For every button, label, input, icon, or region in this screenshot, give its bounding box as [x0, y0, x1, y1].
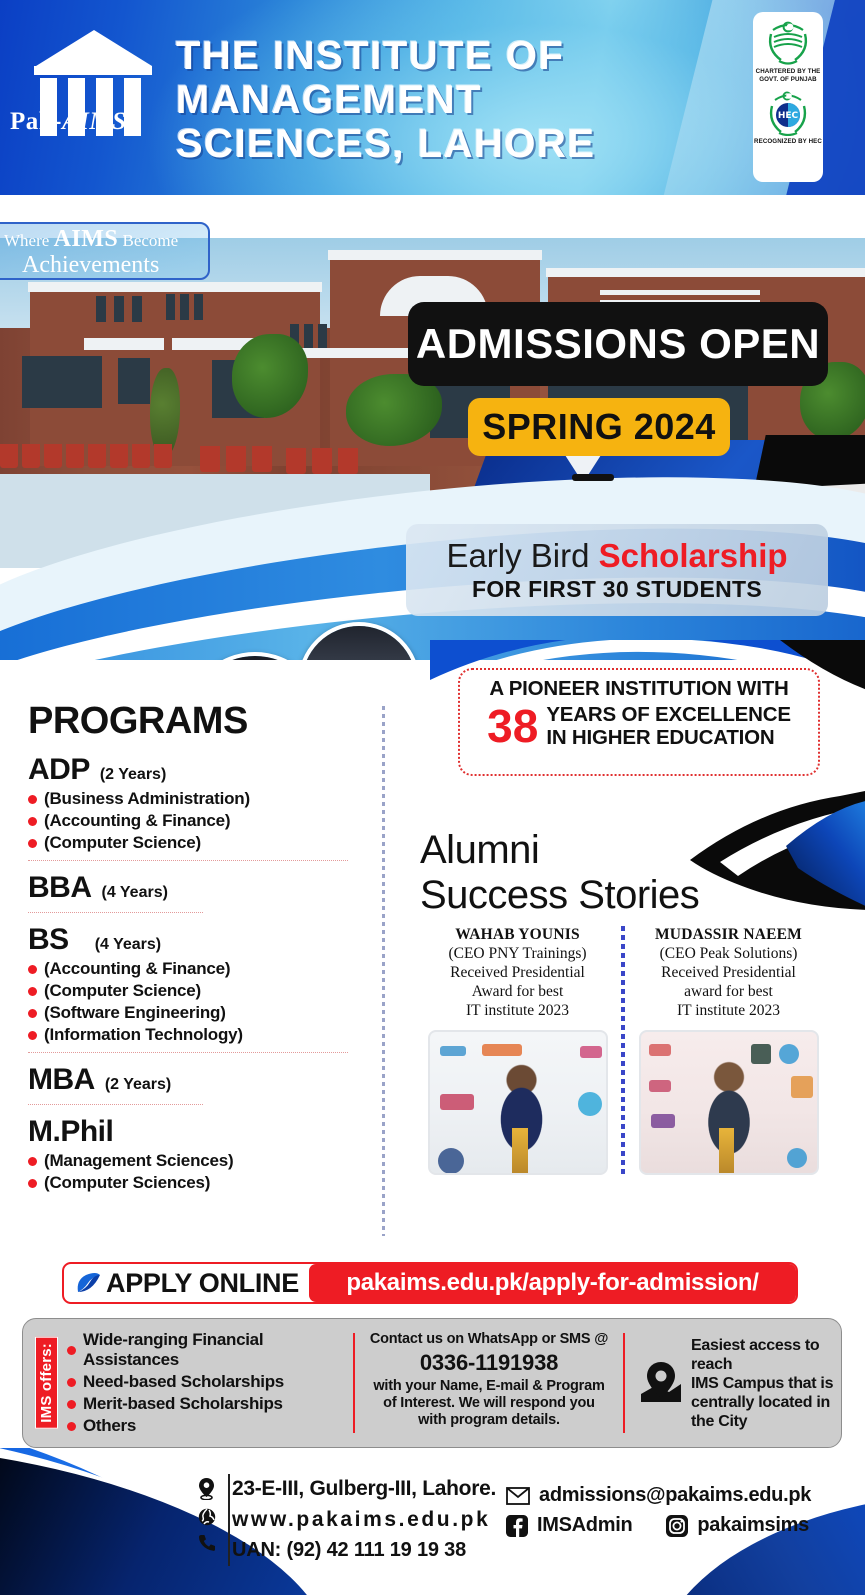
- early-bird-box: Early Bird Scholarship FOR FIRST 30 STUD…: [406, 524, 828, 616]
- program-major: (Computer Sciences): [28, 1173, 368, 1193]
- program-name: BS: [28, 923, 69, 957]
- program-major: (Software Engineering): [28, 1003, 368, 1023]
- list-item: Wide-ranging Financial Assistances: [67, 1330, 353, 1370]
- globe-icon: [198, 1508, 216, 1526]
- contact-line3c: with program details.: [363, 1412, 615, 1429]
- alumni-name: MUDASSIR NAEEM: [631, 926, 826, 944]
- bullet-icon: [28, 795, 37, 804]
- bullet-icon: [67, 1378, 76, 1387]
- tagline-badge: Where AIMS Become Achievements: [0, 222, 210, 280]
- location-line3: centrally located in the City: [691, 1393, 841, 1431]
- envelope-icon: [506, 1487, 530, 1505]
- tagline-line2: Achievements: [22, 252, 198, 278]
- bullet-icon: [28, 1179, 37, 1188]
- bullet-icon: [28, 965, 37, 974]
- footer-website[interactable]: www.pakaims.edu.pk: [232, 1504, 496, 1535]
- badge-caption-punjab: CHARTERED BY THE GOVT. OF PUNJAB: [754, 68, 822, 84]
- tagline-aims: AIMS: [54, 226, 119, 252]
- banner-dash: [572, 474, 614, 481]
- bullet-icon: [28, 1009, 37, 1018]
- location-text: Easiest access to reach IMS Campus that …: [691, 1336, 841, 1431]
- ims-offers-label: IMS offers:: [35, 1337, 58, 1429]
- major-label: (Business Administration): [44, 789, 250, 809]
- alumni-section: Alumni Success Stories WAHAB YOUNIS (CEO…: [420, 828, 840, 1175]
- offer-label: Wide-ranging Financial Assistances: [83, 1330, 353, 1370]
- alumni-card: WAHAB YOUNIS (CEO PNY Trainings) Receive…: [420, 926, 615, 1175]
- major-label: (Computer Sciences): [44, 1173, 210, 1193]
- tagline-pre: Where: [4, 231, 54, 250]
- list-item: Need-based Scholarships: [67, 1372, 353, 1392]
- page-title: THE INSTITUTE OF MANAGEMENT SCIENCES, LA…: [176, 34, 696, 166]
- poster-header: Pak-AIMS THE INSTITUTE OF MANAGEMENT SCI…: [0, 0, 865, 195]
- program-mphil: M.Phil (Management Sciences) (Computer S…: [28, 1115, 368, 1193]
- major-label: (Accounting & Finance): [44, 811, 230, 831]
- contact-phone: 0336-1191938: [363, 1350, 615, 1376]
- program-bs: BS (4 Years) (Accounting & Finance) (Com…: [28, 923, 368, 1045]
- logo-text-pak: Pak-: [10, 108, 62, 135]
- program-major: (Management Sciences): [28, 1151, 368, 1171]
- pioneer-years-number: 38: [487, 704, 538, 748]
- pioneer-block: A PIONEER INSTITUTION WITH 38 YEARS OF E…: [458, 668, 820, 776]
- footer-separator: [228, 1474, 230, 1566]
- admissions-poster: Pak-AIMS THE INSTITUTE OF MANAGEMENT SCI…: [0, 0, 865, 1595]
- alumni-desc-1: Received Presidential: [420, 963, 615, 982]
- location-line1: Easiest access to reach: [691, 1336, 841, 1374]
- alumni-desc-2: award for best: [631, 982, 826, 1001]
- instagram-icon[interactable]: [666, 1515, 688, 1537]
- programs-section: PROGRAMS ADP (2 Years) (Business Adminis…: [28, 700, 368, 1193]
- program-major: (Computer Science): [28, 833, 368, 853]
- term-badge: SPRING 2024: [468, 398, 730, 456]
- title-line-2: MANAGEMENT: [176, 78, 696, 122]
- program-duration: (4 Years): [102, 884, 168, 902]
- major-label: (Management Sciences): [44, 1151, 233, 1171]
- bullet-icon: [67, 1422, 76, 1431]
- apply-online-bar[interactable]: APPLY ONLINE pakaims.edu.pk/apply-for-ad…: [62, 1262, 798, 1304]
- alumni-card: MUDASSIR NAEEM (CEO Peak Solutions) Rece…: [631, 926, 826, 1175]
- alumni-role: (CEO Peak Solutions): [631, 944, 826, 963]
- location-line2: IMS Campus that is: [691, 1374, 841, 1393]
- alumni-photo: [428, 1030, 608, 1175]
- bullet-icon: [28, 987, 37, 996]
- offer-label: Merit-based Scholarships: [83, 1394, 283, 1414]
- alumni-role: (CEO PNY Trainings): [420, 944, 615, 963]
- footer-address: 23-E-III, Gulberg-III, Lahore.: [232, 1474, 496, 1504]
- poster-footer: 23-E-III, Gulberg-III, Lahore. www.pakai…: [0, 1448, 865, 1595]
- bullet-icon: [28, 817, 37, 826]
- contact-line1: Contact us on WhatsApp or SMS @: [363, 1331, 615, 1347]
- pioneer-line2b: IN HIGHER EDUCATION: [546, 726, 791, 749]
- program-major: (Computer Science): [28, 981, 368, 1001]
- major-label: (Computer Science): [44, 833, 201, 853]
- list-item: Merit-based Scholarships: [67, 1394, 353, 1414]
- title-line-3: SCIENCES, LAHORE: [176, 122, 696, 166]
- program-major: (Information Technology): [28, 1025, 368, 1045]
- offers-list: Wide-ranging Financial Assistances Need-…: [67, 1328, 353, 1438]
- svg-text:HEC: HEC: [778, 111, 799, 121]
- divider: [28, 1052, 348, 1053]
- program-adp: ADP (2 Years) (Business Administration) …: [28, 753, 368, 853]
- apply-cursor-icon: [74, 1270, 102, 1296]
- alumni-desc-3: IT institute 2023: [420, 1001, 615, 1020]
- admissions-open-banner: ADMISSIONS OPEN: [408, 302, 828, 386]
- major-label: (Accounting & Finance): [44, 959, 230, 979]
- footer-email[interactable]: admissions@pakaims.edu.pk: [539, 1484, 811, 1507]
- bullet-icon: [67, 1400, 76, 1409]
- program-duration: (2 Years): [100, 766, 166, 784]
- list-item: Others: [67, 1416, 353, 1436]
- program-name: ADP: [28, 753, 90, 787]
- program-major: (Business Administration): [28, 789, 368, 809]
- bullet-icon: [28, 1157, 37, 1166]
- contact-line3b: of Interest. We will respond you: [363, 1395, 615, 1412]
- program-duration: (2 Years): [105, 1076, 171, 1094]
- divider: [28, 860, 348, 861]
- major-label: (Computer Science): [44, 981, 201, 1001]
- punjab-govt-emblem-icon: [765, 18, 811, 66]
- offers-panel: IMS offers: Wide-ranging Financial Assis…: [22, 1318, 842, 1448]
- program-mba: MBA (2 Years): [28, 1063, 368, 1097]
- footer-contact-left: 23-E-III, Gulberg-III, Lahore. www.pakai…: [196, 1474, 496, 1565]
- footer-uan: UAN: (92) 42 111 19 19 38: [232, 1535, 496, 1565]
- alumni-desc-3: IT institute 2023: [631, 1001, 826, 1020]
- offer-label: Need-based Scholarships: [83, 1372, 284, 1392]
- apply-online-label: APPLY ONLINE: [106, 1268, 299, 1299]
- alumni-desc-1: Received Presidential: [631, 963, 826, 982]
- title-line-1: THE INSTITUTE OF: [176, 34, 696, 78]
- programs-title: PROGRAMS: [28, 700, 368, 743]
- footer-instagram[interactable]: pakaimsims: [697, 1514, 809, 1537]
- tagline-post: Become: [118, 231, 178, 250]
- divider: [28, 1104, 203, 1105]
- badge-caption-hec: RECOGNIZED BY HEC: [754, 138, 822, 146]
- major-label: (Software Engineering): [44, 1003, 226, 1023]
- hec-emblem-icon: HEC: [765, 88, 811, 136]
- contact-line3a: with your Name, E-mail & Program: [363, 1378, 615, 1395]
- early-bird-highlight: Scholarship: [599, 537, 788, 574]
- early-bird-prefix: Early Bird: [446, 537, 598, 574]
- location-block: Easiest access to reach IMS Campus that …: [625, 1319, 841, 1447]
- alumni-name: WAHAB YOUNIS: [420, 926, 615, 944]
- alumni-heading-2: Success Stories: [420, 872, 840, 918]
- bullet-icon: [28, 1031, 37, 1040]
- term-text: SPRING 2024: [482, 406, 716, 448]
- location-pin-icon: [198, 1478, 215, 1500]
- major-label: (Information Technology): [44, 1025, 243, 1045]
- phone-icon: [198, 1534, 216, 1552]
- logo-text-aims: AIMS: [62, 108, 127, 135]
- program-name: M.Phil: [28, 1115, 113, 1149]
- alumni-desc-2: Award for best: [420, 982, 615, 1001]
- alumni-heading-1: Alumni: [420, 828, 840, 872]
- map-pin-icon: [639, 1360, 683, 1406]
- alumni-photo: [639, 1030, 819, 1175]
- apply-url-button[interactable]: pakaims.edu.pk/apply-for-admission/: [309, 1264, 796, 1302]
- footer-contact-right: admissions@pakaims.edu.pk IMSAdmin: [506, 1484, 811, 1537]
- program-name: MBA: [28, 1063, 95, 1097]
- facebook-icon[interactable]: [506, 1515, 528, 1537]
- contact-block: Contact us on WhatsApp or SMS @ 0336-119…: [355, 1319, 623, 1447]
- divider: [28, 912, 203, 913]
- column-divider: [382, 706, 385, 1236]
- admissions-open-text: ADMISSIONS OPEN: [416, 320, 820, 368]
- pioneer-line1: A PIONEER INSTITUTION WITH: [470, 677, 808, 701]
- logo-wordmark: Pak-AIMS: [10, 108, 140, 136]
- bullet-icon: [67, 1346, 76, 1355]
- program-bba: BBA (4 Years): [28, 871, 368, 905]
- footer-facebook[interactable]: IMSAdmin: [537, 1514, 632, 1537]
- offers-left: IMS offers: Wide-ranging Financial Assis…: [23, 1319, 353, 1447]
- offer-label: Others: [83, 1416, 136, 1436]
- accreditation-badges: CHARTERED BY THE GOVT. OF PUNJAB HEC REC…: [753, 12, 823, 182]
- early-bird-sub: FOR FIRST 30 STUDENTS: [472, 576, 762, 603]
- program-major: (Accounting & Finance): [28, 811, 368, 831]
- program-duration: (4 Years): [95, 936, 161, 954]
- apply-url-text: pakaims.edu.pk/apply-for-admission/: [346, 1269, 758, 1297]
- bullet-icon: [28, 839, 37, 848]
- program-major: (Accounting & Finance): [28, 959, 368, 979]
- pioneer-line2a: YEARS OF EXCELLENCE: [546, 703, 791, 726]
- alumni-divider: [621, 926, 625, 1175]
- program-name: BBA: [28, 871, 92, 905]
